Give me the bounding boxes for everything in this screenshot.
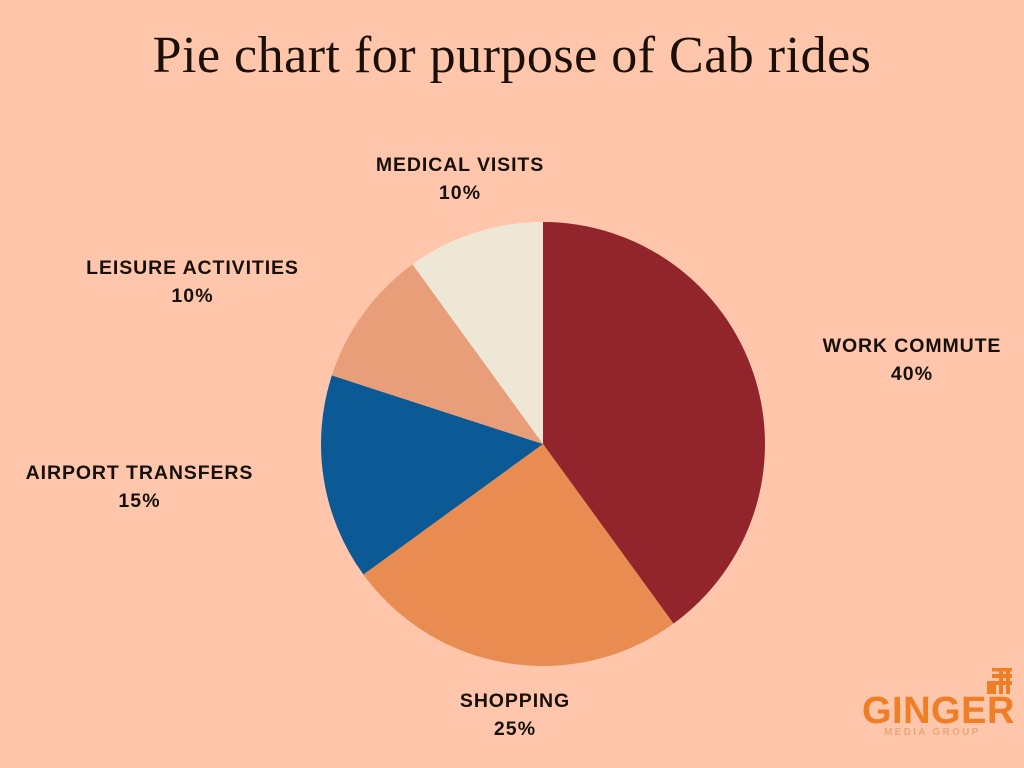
slice-label-text: LEISURE ACTIVITIES [86,257,299,279]
slice-value-text: 10% [354,180,566,208]
slice-label-work-commute: WORK COMMUTE 40% [804,333,1020,388]
slice-value-text: 25% [410,716,620,744]
slice-label-text: MEDICAL VISITS [376,154,544,176]
pie-chart [321,222,765,666]
slice-value-text: 15% [2,488,277,516]
slice-label-medical-visits: MEDICAL VISITS 10% [354,152,566,207]
slide-canvas: Pie chart for purpose of Cab rides MEDIC… [0,0,1024,768]
logo-subtext: MEDIA GROUP [884,728,981,738]
slice-label-text: SHOPPING [460,690,570,712]
slice-label-shopping: SHOPPING 25% [410,688,620,743]
slice-label-text: WORK COMMUTE [823,335,1002,357]
page-title: Pie chart for purpose of Cab rides [0,26,1024,85]
slice-value-text: 10% [60,283,325,311]
slice-label-text: AIRPORT TRANSFERS [26,462,254,484]
brand-logo: GINGER MEDIA GROUP [862,668,1014,744]
slice-value-text: 40% [804,361,1020,389]
slice-label-leisure-activities: LEISURE ACTIVITIES 10% [60,255,325,310]
pie-chart-svg [321,222,765,666]
pie-slice-group [321,222,765,666]
logo-wordmark: GINGER [862,692,986,730]
slice-label-airport-transfers: AIRPORT TRANSFERS 15% [2,460,277,515]
